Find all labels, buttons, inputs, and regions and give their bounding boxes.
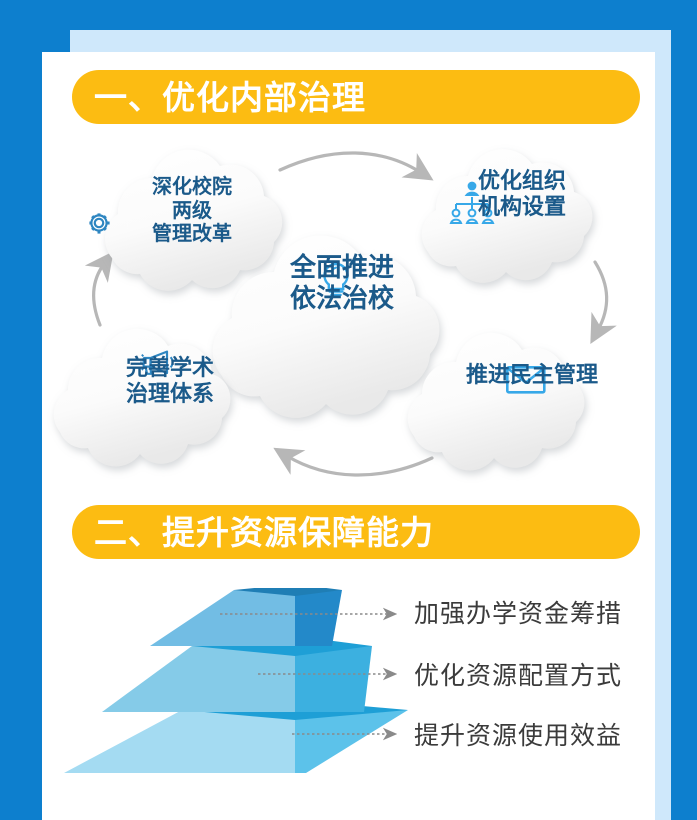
- pyramid-tier-2: [102, 636, 372, 712]
- arrow-left-up: [94, 264, 104, 325]
- section-one-title: 一、优化内部治理: [94, 81, 366, 114]
- pyramid-tier-1: [150, 588, 342, 646]
- arrow-right-down: [595, 262, 607, 330]
- pyramid-label-tier-2: 优化资源配置方式: [414, 656, 622, 692]
- section-header-two: 二、提升资源保障能力: [72, 505, 640, 559]
- cloud-diagram-graphics: [42, 140, 655, 485]
- arrow-bottom-left: [287, 456, 432, 475]
- section-header-one: 一、优化内部治理: [72, 70, 640, 124]
- cloud-bottom-left: [54, 329, 231, 467]
- cloud-top-left: [105, 150, 282, 291]
- pyramid-label-tier-1: 加强办学资金筹措: [414, 594, 622, 630]
- section-two-title: 二、提升资源保障能力: [94, 516, 434, 549]
- pyramid-label-tier-3: 提升资源使用效益: [414, 716, 622, 752]
- pyramid-diagram: 加强办学资金筹措 优化资源配置方式 提升资源使用效益: [42, 588, 655, 788]
- cloud-top-right: [422, 149, 593, 283]
- cloud-diagram: 深化校院 两级 管理改革 优化组织 机构设置 推进民主管理 完善学术 治理体系 …: [42, 140, 655, 485]
- arrow-top-right: [280, 153, 420, 172]
- cloud-bottom-right: [408, 333, 585, 471]
